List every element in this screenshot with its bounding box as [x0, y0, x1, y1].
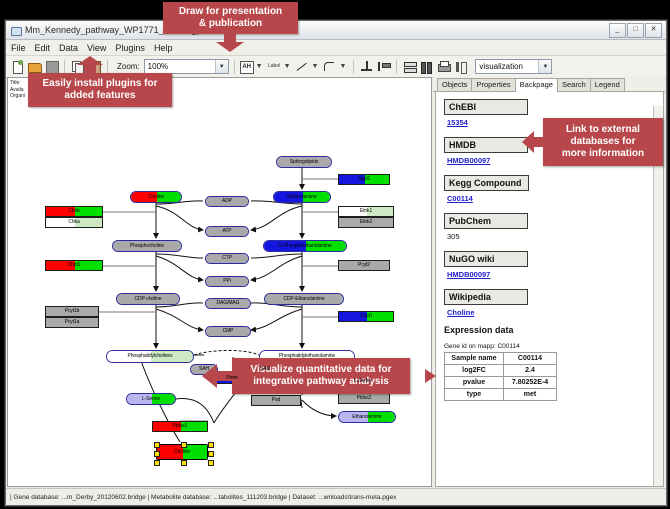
app-icon — [10, 25, 21, 36]
expression-data-title: Expression data — [444, 325, 663, 335]
gene-node-chkb[interactable]: Chkb — [45, 206, 103, 217]
node-label: Sphingolipids — [290, 160, 318, 165]
node-label: CDP-choline — [135, 297, 162, 302]
tab-backpage[interactable]: Backpage — [515, 78, 558, 93]
db-link[interactable]: C00114 — [447, 194, 663, 203]
node-label: Ptdss2 — [357, 396, 372, 401]
metabolite-node-sphingolipids[interactable]: Sphingolipids — [276, 156, 332, 168]
db-section-header: NuGO wiki — [444, 251, 528, 267]
menu-view[interactable]: View — [87, 43, 106, 53]
gene-node-etnk1[interactable]: Etnk1 — [338, 206, 394, 217]
metabolite-node-o_phosphoethanolamine[interactable]: O-Phosphoethanolamine — [263, 240, 347, 252]
expression-key: Sample name — [445, 353, 504, 365]
node-label: Chka — [68, 220, 79, 225]
db-section-kegg-compound: Kegg CompoundC00114 — [444, 173, 663, 203]
callout-plugins-line1: Easily install plugins for — [42, 78, 157, 90]
db-link[interactable]: HMDB00097 — [447, 270, 663, 279]
metabolite-node-cdp_choline[interactable]: CDP-choline — [116, 293, 180, 305]
node-label: L-Serine — [354, 379, 372, 384]
db-section-pubchem: PubChem305 — [444, 211, 663, 241]
expression-row: log2FC2.4 — [445, 365, 557, 377]
node-label: Phosphocholine — [130, 244, 164, 249]
menu-bar: File Edit Data View Plugins Help — [6, 40, 666, 56]
node-label: Pemt — [226, 376, 237, 381]
zoom-label: Zoom: — [117, 62, 140, 71]
db-value: 305 — [447, 232, 663, 241]
db-section-header: Wikipedia — [444, 289, 528, 305]
gene-node-pcyt1b[interactable]: Pcyt1b — [45, 306, 99, 317]
node-label: Choline — [148, 195, 164, 200]
callout-draw-line2: & publication — [199, 18, 262, 30]
toolbar-separator — [107, 60, 108, 74]
metabolite-node-dag_mag[interactable]: DAG/MAG — [205, 298, 251, 309]
node-label: Pcyt1a — [65, 320, 80, 325]
gene-node-chka[interactable]: Chka — [45, 217, 103, 228]
node-label: DAG/MAG — [217, 301, 240, 306]
align-icon[interactable] — [376, 59, 391, 74]
callout-plugins: Easily install plugins for added feature… — [28, 73, 172, 107]
expression-key: pvalue — [445, 377, 504, 389]
node-label: Cept1 — [360, 314, 373, 319]
zoom-value: 100% — [148, 62, 168, 71]
metabolite-node-phosphatidylcholines[interactable]: Phosphatidylcholines — [106, 350, 194, 363]
anchor-icon[interactable] — [359, 59, 374, 74]
expression-row: pvalue7.80252E-4 — [445, 377, 557, 389]
visualization-combo[interactable]: visualization ▼ — [475, 59, 552, 74]
expression-row: Sample nameC00114 — [445, 353, 557, 365]
chevron-down-icon[interactable]: ▼ — [538, 60, 551, 73]
metabolite-node-ppi[interactable]: PPi — [205, 276, 249, 287]
gene-node-ptdss2[interactable]: Ptdss2 — [338, 393, 390, 404]
gene-node-psd[interactable]: Psd — [251, 395, 301, 406]
maximize-button[interactable]: □ — [627, 23, 644, 38]
node-label: PPi — [223, 279, 230, 284]
metabolite-node-ethanolamine_top[interactable]: Ethanolamine — [273, 191, 331, 203]
metabolite-node-ethanolamine_bottom[interactable]: Ethanolamine — [338, 411, 396, 423]
expression-value: 2.4 — [504, 365, 557, 377]
line-icon[interactable] — [295, 59, 310, 74]
menu-data[interactable]: Data — [59, 43, 78, 53]
node-label: CMP — [223, 329, 234, 334]
node-label: Ethanolamine — [287, 195, 316, 200]
expression-key: type — [445, 389, 504, 401]
columns-icon[interactable] — [419, 59, 434, 74]
metabolite-node-atp[interactable]: ATP — [205, 226, 249, 237]
toolbar-separator — [234, 60, 235, 74]
status-bar: | Gene database: ...m_Derby_20120602.bri… — [6, 488, 666, 505]
gene-id-line: Gene id on mapp: C00114 — [444, 343, 663, 350]
expression-value: met — [504, 389, 557, 401]
metabolite-node-adp[interactable]: ADP — [205, 196, 249, 207]
print-icon[interactable] — [436, 59, 451, 74]
db-section-nugo-wiki: NuGO wikiHMDB00097 — [444, 249, 663, 279]
node-label: CTP — [222, 256, 232, 261]
node-label: Etnk1 — [360, 209, 372, 214]
metabolite-node-choline_selected[interactable]: Choline — [156, 444, 208, 460]
close-button[interactable]: ✕ — [645, 23, 662, 38]
title-bar: Mm_Kennedy_pathway_WP1771_45176.gpml _ □… — [6, 21, 666, 40]
gene-node-pcyt1a[interactable]: Pcyt1a — [45, 317, 99, 328]
chevron-down-icon[interactable]: ▼ — [284, 63, 291, 70]
chevron-down-icon[interactable]: ▼ — [256, 63, 263, 70]
tab-objects[interactable]: Objects — [437, 78, 472, 92]
callout-draw-line1: Draw for presentation — [179, 6, 282, 18]
db-section-header: HMDB — [444, 137, 528, 153]
screenshot-root: Mm_Kennedy_pathway_WP1771_45176.gpml _ □… — [0, 0, 670, 509]
callout-visualize: Visualize quantitative data for integrat… — [232, 358, 410, 394]
node-label: SAM — [260, 367, 271, 372]
gene-node-cept1[interactable]: Cept1 — [338, 311, 394, 322]
tab-legend[interactable]: Legend — [590, 78, 625, 92]
arc-icon[interactable] — [322, 59, 337, 74]
db-section-header: PubChem — [444, 213, 528, 229]
expression-value: 7.80252E-4 — [504, 377, 557, 389]
menu-edit[interactable]: Edit — [35, 43, 51, 53]
window-controls: _ □ ✕ — [609, 23, 662, 38]
status-text: | Gene database: ...m_Derby_20120602.bri… — [10, 494, 396, 501]
side-panel-tabs: Objects Properties Backpage Search Legen… — [433, 77, 665, 92]
menu-help[interactable]: Help — [154, 43, 173, 53]
node-label: Ethanolamine — [352, 415, 381, 420]
callout-link-arrow — [522, 131, 544, 153]
callout-link-line2: databases for — [570, 136, 635, 148]
expression-value: C00114 — [504, 353, 557, 365]
metabolite-node-cdp_ethanolamine[interactable]: CDP-Ethanolamine — [264, 293, 344, 305]
node-label: Chpt1 — [68, 263, 81, 268]
tab-search[interactable]: Search — [557, 78, 591, 92]
chevron-down-icon[interactable]: ▼ — [339, 63, 346, 70]
db-section-header: ChEBI — [444, 99, 528, 115]
db-link[interactable]: Choline — [447, 308, 663, 317]
minimize-button[interactable]: _ — [609, 23, 626, 38]
metabolite-node-cmp[interactable]: CMP — [205, 326, 251, 337]
pathway-canvas[interactable]: Title: Availa Organi — [7, 77, 432, 487]
menu-plugins[interactable]: Plugins — [115, 43, 145, 53]
db-section-wikipedia: WikipediaCholine — [444, 287, 663, 317]
node-label: Ptdss1 — [173, 424, 188, 429]
toolbar-separator — [353, 60, 354, 74]
bar-icon[interactable] — [453, 59, 468, 74]
expression-key: log2FC — [445, 365, 504, 377]
callout-link-line1: Link to external — [566, 124, 640, 136]
toolbar-separator — [64, 60, 65, 74]
node-label: Psd — [272, 398, 280, 403]
gene-node-sgpl1[interactable]: Sgpl1 — [338, 174, 390, 185]
callout-visualize-line1: Visualize quantitative data for — [251, 364, 392, 376]
callout-link-line3: more information — [562, 148, 644, 160]
callout-link-databases: Link to external databases for more info… — [543, 118, 663, 166]
callout-plugins-arrow — [77, 56, 103, 74]
metabolite-node-l_serine_left[interactable]: L-Serine — [126, 393, 176, 405]
save-icon[interactable] — [44, 59, 59, 74]
node-label: Etnk2 — [360, 220, 372, 225]
zoom-combo[interactable]: 100% ▼ — [144, 59, 229, 74]
gene-node-chpt1[interactable]: Chpt1 — [45, 260, 103, 271]
db-section-header: Kegg Compound — [444, 175, 529, 191]
callout-plugins-line2: added features — [64, 90, 135, 102]
node-label: O-Phosphoethanolamine — [278, 244, 331, 249]
node-label: Choline — [174, 450, 190, 455]
callout-draw: Draw for presentation & publication — [163, 2, 298, 34]
callout-expression-arrow — [425, 369, 439, 383]
node-label: SAH — [199, 367, 209, 372]
node-label: Chkb — [68, 209, 79, 214]
node-label: CDP-Ethanolamine — [283, 297, 324, 302]
node-label: L-Serine — [142, 397, 160, 402]
node-label: ADP — [222, 199, 232, 204]
stack-icon[interactable] — [402, 59, 417, 74]
gene-node-pcyt2[interactable]: Pcyt2 — [338, 260, 390, 271]
node-label: Sgpl1 — [358, 177, 370, 182]
menu-file[interactable]: File — [11, 43, 26, 53]
expression-table: Sample nameC00114log2FC2.4pvalue7.80252E… — [444, 352, 557, 401]
expression-row: typemet — [445, 389, 557, 401]
node-label: Phosphatidylcholines — [128, 354, 173, 359]
toolbar-separator — [396, 60, 397, 74]
label-text-icon[interactable]: Label — [267, 59, 282, 74]
node-label: ATP — [222, 229, 231, 234]
chevron-down-icon[interactable]: ▼ — [312, 63, 319, 70]
metabolite-node-phosphocholine[interactable]: Phosphocholine — [112, 240, 182, 252]
new-document-icon[interactable] — [10, 59, 25, 74]
tab-properties[interactable]: Properties — [471, 78, 515, 92]
node-label: Phosphatidylethanolamine — [279, 354, 335, 359]
visualization-value: visualization — [479, 62, 523, 71]
metabolite-node-ctp[interactable]: CTP — [205, 253, 249, 264]
metabolite-node-choline_top[interactable]: Choline — [130, 191, 182, 203]
gene-node-etnk2[interactable]: Etnk2 — [338, 217, 394, 228]
label-box-icon[interactable]: AH — [240, 61, 254, 74]
chevron-down-icon[interactable]: ▼ — [215, 60, 228, 73]
open-folder-icon[interactable] — [27, 59, 42, 74]
node-label: Pcyt1b — [65, 309, 80, 314]
node-label: Pcyt2 — [358, 263, 370, 268]
gene-node-ptdss1[interactable]: Ptdss1 — [152, 421, 208, 432]
